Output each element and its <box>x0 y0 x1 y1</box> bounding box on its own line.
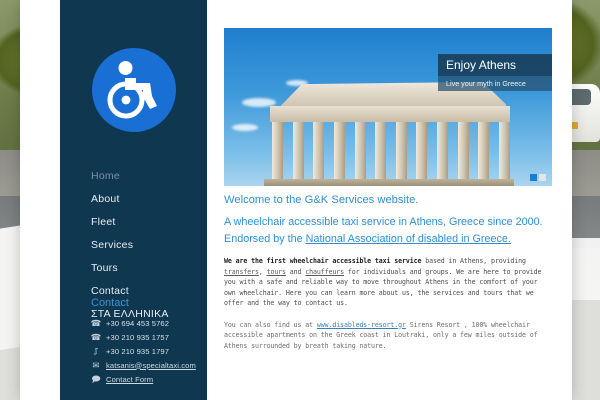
parthenon-columns <box>272 122 510 186</box>
email-link[interactable]: katsanis@specialtaxi.com <box>106 361 196 370</box>
intro-bold: We are the first wheelchair accessible t… <box>224 257 421 265</box>
banner-caption-subtitle: Live your myth in Greece <box>438 76 552 91</box>
phone-1-value: +30 694 453 5762 <box>106 319 169 328</box>
wheelchair-accessibility-icon <box>92 48 176 132</box>
association-link[interactable]: National Association of disabled in Gree… <box>306 233 511 245</box>
resort-a: You can also find us at <box>224 321 317 329</box>
parthenon-base <box>264 179 514 186</box>
contact-row-email[interactable]: ✉ katsanis@specialtaxi.com <box>91 358 211 372</box>
chauffeurs-link[interactable]: chauffeurs <box>305 268 344 276</box>
contact-list: ☎ +30 694 453 5762 ☎ +30 210 935 1757 ⎎ … <box>91 316 211 386</box>
endorsed-prefix: Endorsed by the <box>224 233 306 245</box>
phone-2-value: +30 210 935 1757 <box>106 333 169 342</box>
intro-b: , <box>259 268 267 276</box>
page-root: Home About Fleet Services Tours Contact … <box>0 0 600 400</box>
page-card: Home About Fleet Services Tours Contact … <box>20 0 572 400</box>
fax-icon: ⎎ <box>91 346 101 356</box>
telephone-icon: ☎ <box>91 318 101 328</box>
banner-caption-title: Enjoy Athens <box>438 54 552 76</box>
main-navigation[interactable]: Home About Fleet Services Tours Contact … <box>60 165 207 326</box>
subheading-line-1: A wheelchair accessible taxi service in … <box>224 215 546 230</box>
slideshow-indicators[interactable] <box>530 174 546 181</box>
hero-banner[interactable]: Enjoy Athens Live your myth in Greece <box>224 28 552 186</box>
content-body: Welcome to the G&K Services website. A w… <box>224 192 546 351</box>
sidebar-item-fleet[interactable]: Fleet <box>60 211 207 234</box>
contact-heading: Contact <box>91 297 129 309</box>
contact-row-phone-2: ☎ +30 210 935 1757 <box>91 330 211 344</box>
sidebar-item-contact[interactable]: Contact <box>60 280 207 303</box>
sidebar-item-home[interactable]: Home <box>60 165 207 188</box>
main-content: Enjoy Athens Live your myth in Greece We… <box>207 0 552 400</box>
intro-a: based in Athens, providing <box>421 257 525 265</box>
site-logo[interactable] <box>60 48 207 148</box>
parthenon-entablature <box>270 106 510 122</box>
speech-bubble-icon: 🗩 <box>91 374 101 384</box>
contact-form-link[interactable]: Contact Form <box>106 375 153 384</box>
subheading-line-2: Endorsed by the National Association of … <box>224 232 546 247</box>
fax-value: +30 210 935 1797 <box>106 347 169 356</box>
sidebar-item-tours[interactable]: Tours <box>60 257 207 280</box>
intro-c: and <box>286 268 305 276</box>
envelope-icon: ✉ <box>91 360 101 370</box>
resort-link[interactable]: www.disableds-resort.gr <box>317 321 406 329</box>
cloud-icon <box>232 124 258 131</box>
parthenon-image <box>264 82 514 186</box>
page-title: Welcome to the G&K Services website. <box>224 192 546 208</box>
contact-row-fax: ⎎ +30 210 935 1797 <box>91 344 211 358</box>
telephone-icon: ☎ <box>91 332 101 342</box>
intro-paragraph: We are the first wheelchair accessible t… <box>224 256 546 309</box>
slide-indicator-1-active[interactable] <box>530 174 537 181</box>
transfers-link[interactable]: transfers <box>224 268 259 276</box>
resort-paragraph: You can also find us at www.disableds-re… <box>224 320 546 352</box>
banner-caption: Enjoy Athens Live your myth in Greece <box>438 54 552 91</box>
sidebar-item-about[interactable]: About <box>60 188 207 211</box>
slide-indicator-2[interactable] <box>539 174 546 181</box>
contact-row-phone-1: ☎ +30 694 453 5762 <box>91 316 211 330</box>
tours-link[interactable]: tours <box>267 268 286 276</box>
sidebar: Home About Fleet Services Tours Contact … <box>60 0 207 400</box>
sidebar-item-services[interactable]: Services <box>60 234 207 257</box>
contact-row-form[interactable]: 🗩 Contact Form <box>91 372 211 386</box>
